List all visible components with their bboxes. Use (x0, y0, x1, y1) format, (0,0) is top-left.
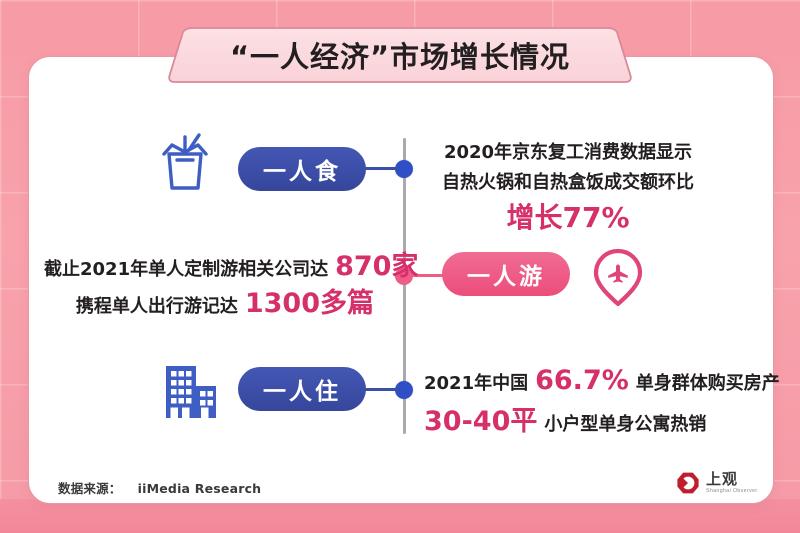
airplane-pin-icon (592, 248, 644, 306)
stat-highlight-row2-2: 1300多篇 (245, 288, 374, 319)
stat-highlight-row3-2: 30-40平 (424, 406, 537, 437)
building-icon (160, 358, 222, 424)
brand-name-cn: 上观 (706, 472, 758, 487)
stat-line-row3-2: 30-40平小户型单身公寓热销 (424, 403, 754, 444)
stat-prefix-row2-1: 截止2021年单人定制游相关公司达 (44, 259, 328, 280)
data-source-label: 数据来源： (58, 481, 122, 496)
infographic-root: “一人经济”市场增长情况 一人食 2020年京东复工消费数据显示 自热火锅和自热… (0, 0, 800, 533)
stat-line-row2-2: 携程单人出行游记达1300多篇 (44, 287, 374, 324)
stat-block-row3: 2021年中国66.7%单身群体购买房产 30-40平小户型单身公寓热销 (424, 362, 754, 444)
data-source: 数据来源： iiMedia Research (58, 478, 261, 497)
stat-line-row1-2: 自热火锅和自热盒饭成交额环比 (434, 168, 702, 198)
stat-suffix-row3-1: 单身群体购买房产 (636, 373, 780, 394)
page-title: “一人经济”市场增长情况 (166, 27, 634, 83)
stat-block-row2: 截止2021年单人定制游相关公司达870家 携程单人出行游记达1300多篇 (44, 250, 374, 324)
data-source-value: iiMedia Research (138, 481, 262, 496)
shanghai-observer-mark-icon (676, 471, 700, 495)
category-pill-row2: 一人游 (442, 252, 570, 296)
stat-line-row1-1: 2020年京东复工消费数据显示 (434, 138, 702, 168)
brand-name-en: Shanghai Observer (706, 489, 758, 494)
stat-line-row2-1: 截止2021年单人定制游相关公司达870家 (44, 250, 374, 287)
takeout-box-icon (155, 128, 215, 194)
brand-logo: 上观 Shanghai Observer (676, 468, 760, 498)
stat-highlight-row3-1: 66.7% (535, 365, 629, 396)
stat-highlight-row2-1: 870家 (335, 251, 418, 282)
category-pill-row1: 一人食 (238, 147, 366, 191)
stat-suffix-row3-2: 小户型单身公寓热销 (544, 414, 706, 435)
timeline-connector-row3 (364, 388, 400, 391)
stat-line-row3-1: 2021年中国66.7%单身群体购买房产 (424, 362, 754, 403)
brand-logo-text: 上观 Shanghai Observer (706, 472, 758, 494)
timeline-connector-row1 (364, 167, 400, 170)
category-pill-row3: 一人住 (238, 367, 366, 411)
page-background-bottom-strip (0, 499, 800, 533)
stat-highlight-row1: 增长77% (434, 200, 702, 236)
stat-block-row1: 2020年京东复工消费数据显示 自热火锅和自热盒饭成交额环比 增长77% (434, 138, 702, 236)
stat-prefix-row3-1: 2021年中国 (424, 373, 528, 394)
stat-prefix-row2-2: 携程单人出行游记达 (76, 296, 238, 317)
